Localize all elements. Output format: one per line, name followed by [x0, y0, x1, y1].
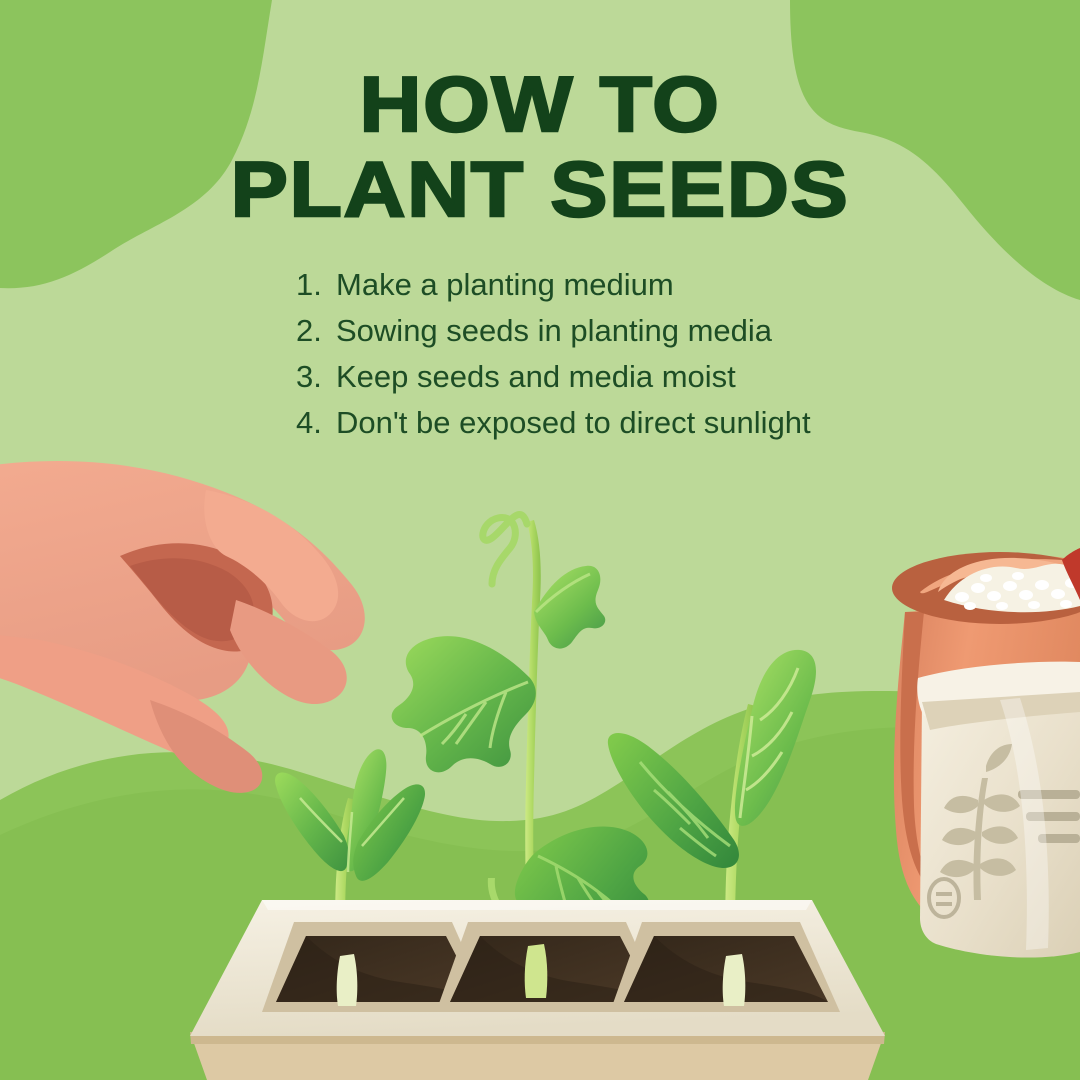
step-label: Don't be exposed to direct sunlight [336, 406, 811, 440]
step-label: Sowing seeds in planting media [336, 314, 772, 348]
step-number: 2. [296, 314, 336, 348]
seed-packet [917, 662, 1080, 958]
steps-list: 1. Make a planting medium 2. Sowing seed… [296, 268, 916, 452]
step-label: Make a planting medium [336, 268, 674, 302]
list-item: 3. Keep seeds and media moist [296, 360, 916, 394]
stem-base-2 [525, 944, 548, 998]
step-label: Keep seeds and media moist [336, 360, 736, 394]
tray-top-highlight [262, 900, 812, 910]
list-item: 4. Don't be exposed to direct sunlight [296, 406, 916, 440]
stem-base-3 [723, 954, 746, 1006]
step-number: 1. [296, 268, 336, 302]
title-line-2: PLANT SEEDS [0, 147, 1080, 232]
stem-base-1 [337, 954, 358, 1006]
seedling-tray [190, 900, 885, 1080]
list-item: 2. Sowing seeds in planting media [296, 314, 916, 348]
step-number: 3. [296, 360, 336, 394]
title-line-1: HOW TO [0, 62, 1080, 147]
page-title: HOW TO PLANT SEEDS [0, 62, 1080, 232]
poster-canvas: HOW TO PLANT SEEDS 1. Make a planting me… [0, 0, 1080, 1080]
step-number: 4. [296, 406, 336, 440]
list-item: 1. Make a planting medium [296, 268, 916, 302]
